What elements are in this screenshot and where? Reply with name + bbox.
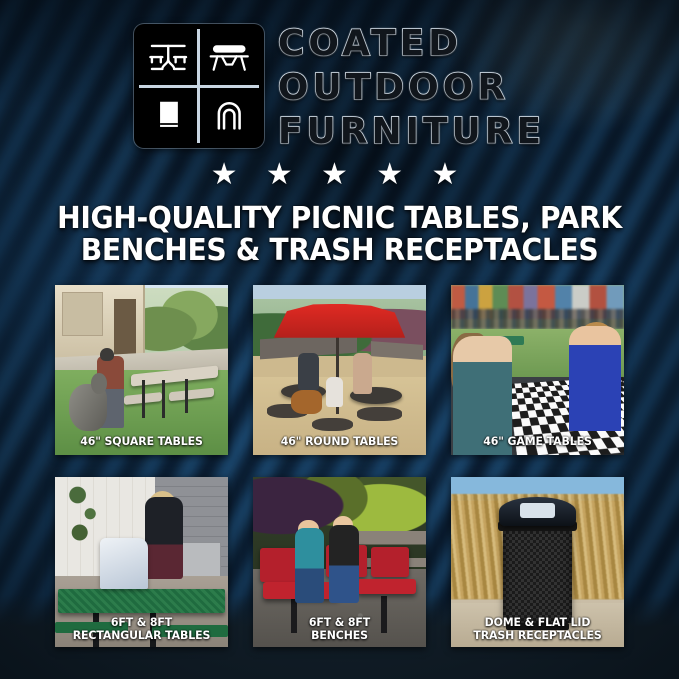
product-caption: 6FT & 8FT RECTANGULAR TABLES <box>63 616 220 642</box>
headline-line-1: HIGH-QUALITY PICNIC TABLES, PARK <box>47 203 633 235</box>
product-photo-square-tables <box>55 285 228 455</box>
product-caption-line-2: BENCHES <box>261 629 418 642</box>
product-caption: 6FT & 8FT BENCHES <box>261 616 418 642</box>
five-star-rating: ★ ★ ★ ★ ★ <box>0 160 679 190</box>
product-tile-rectangular-tables[interactable]: 6FT & 8FT RECTANGULAR TABLES <box>55 477 228 647</box>
bike-rack-arch-icon <box>200 88 259 144</box>
product-caption: 46" SQUARE TABLES <box>63 435 220 448</box>
brand-wordmark: COATED OUTDOOR FURNITURE <box>278 24 545 150</box>
product-caption: DOME & FLAT LID TRASH RECEPTACLES <box>459 616 616 642</box>
product-category-grid: 46" SQUARE TABLES 46" ROUND TABLES 46" <box>55 285 624 647</box>
product-photo-game-tables <box>451 285 624 455</box>
wordmark-line-coated: COATED <box>278 26 545 62</box>
page-title: HIGH-QUALITY PICNIC TABLES, PARK BENCHES… <box>47 203 633 268</box>
logo-icon-grid <box>139 29 259 143</box>
product-caption: 46" ROUND TABLES <box>261 435 418 448</box>
product-photo-round-tables <box>253 285 426 455</box>
product-tile-game-tables[interactable]: 46" GAME TABLES <box>451 285 624 455</box>
product-caption-line-1: 6FT & 8FT <box>261 616 418 629</box>
product-caption-line-2: RECTANGULAR TABLES <box>63 629 220 642</box>
headline-line-2: BENCHES & TRASH RECEPTACLES <box>47 235 633 267</box>
wordmark-line-outdoor: OUTDOOR <box>278 70 545 106</box>
brand-header: COATED OUTDOOR FURNITURE <box>0 24 679 150</box>
product-tile-trash-receptacles[interactable]: DOME & FLAT LID TRASH RECEPTACLES <box>451 477 624 647</box>
product-caption: 46" GAME TABLES <box>459 435 616 448</box>
product-caption-line-2: TRASH RECEPTACLES <box>459 629 616 642</box>
product-tile-square-tables[interactable]: 46" SQUARE TABLES <box>55 285 228 455</box>
bench-icon <box>200 29 259 85</box>
product-tile-benches[interactable]: 6FT & 8FT BENCHES <box>253 477 426 647</box>
product-tile-round-tables[interactable]: 46" ROUND TABLES <box>253 285 426 455</box>
poster-content: COATED OUTDOOR FURNITURE ★ ★ ★ ★ ★ HIGH-… <box>0 0 679 679</box>
wordmark-line-furniture: FURNITURE <box>278 114 545 150</box>
picnic-table-icon <box>139 29 198 85</box>
product-caption-line-1: 6FT & 8FT <box>63 616 220 629</box>
product-caption-line-1: DOME & FLAT LID <box>459 616 616 629</box>
trash-receptacle-icon <box>139 88 198 144</box>
coated-outdoor-furniture-logo <box>134 24 264 148</box>
